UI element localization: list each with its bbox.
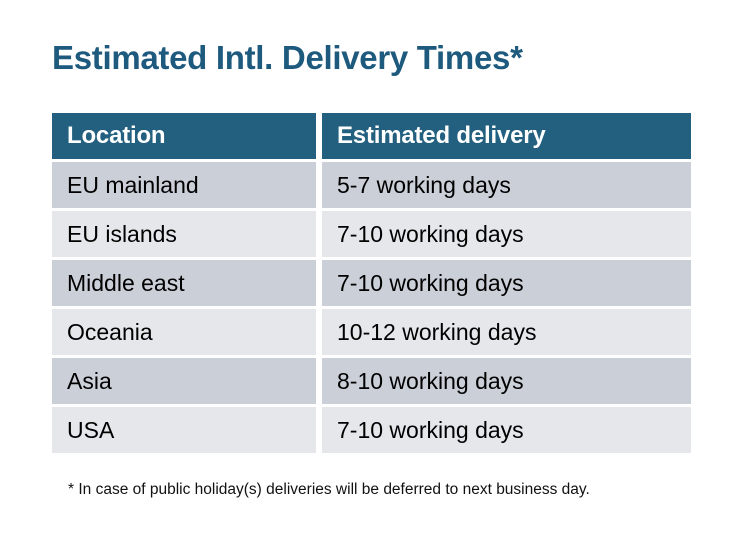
table-header-row: Location Estimated delivery xyxy=(52,113,691,159)
cell-location: USA xyxy=(52,407,316,453)
cell-location: Middle east xyxy=(52,260,316,306)
cell-estimated-delivery: 10-12 working days xyxy=(322,309,691,355)
column-header-estimated-delivery: Estimated delivery xyxy=(322,113,691,159)
delivery-times-card: Estimated Intl. Delivery Times* Location… xyxy=(0,0,745,536)
table-row: EU islands 7-10 working days xyxy=(52,211,691,257)
cell-location: Oceania xyxy=(52,309,316,355)
table-row: USA 7-10 working days xyxy=(52,407,691,453)
cell-estimated-delivery: 7-10 working days xyxy=(322,260,691,306)
table-body: EU mainland 5-7 working days EU islands … xyxy=(52,159,691,453)
table-row: Asia 8-10 working days xyxy=(52,358,691,404)
cell-estimated-delivery: 7-10 working days xyxy=(322,211,691,257)
column-header-location: Location xyxy=(52,113,316,159)
cell-location: Asia xyxy=(52,358,316,404)
table-row: EU mainland 5-7 working days xyxy=(52,162,691,208)
cell-location: EU mainland xyxy=(52,162,316,208)
page-title: Estimated Intl. Delivery Times* xyxy=(52,38,523,78)
cell-estimated-delivery: 8-10 working days xyxy=(322,358,691,404)
table-row: Oceania 10-12 working days xyxy=(52,309,691,355)
cell-estimated-delivery: 7-10 working days xyxy=(322,407,691,453)
cell-location: EU islands xyxy=(52,211,316,257)
footnote: * In case of public holiday(s) deliverie… xyxy=(68,480,590,500)
delivery-times-table: Location Estimated delivery EU mainland … xyxy=(52,113,691,453)
table-row: Middle east 7-10 working days xyxy=(52,260,691,306)
table-header: Location Estimated delivery xyxy=(52,113,691,159)
cell-estimated-delivery: 5-7 working days xyxy=(322,162,691,208)
